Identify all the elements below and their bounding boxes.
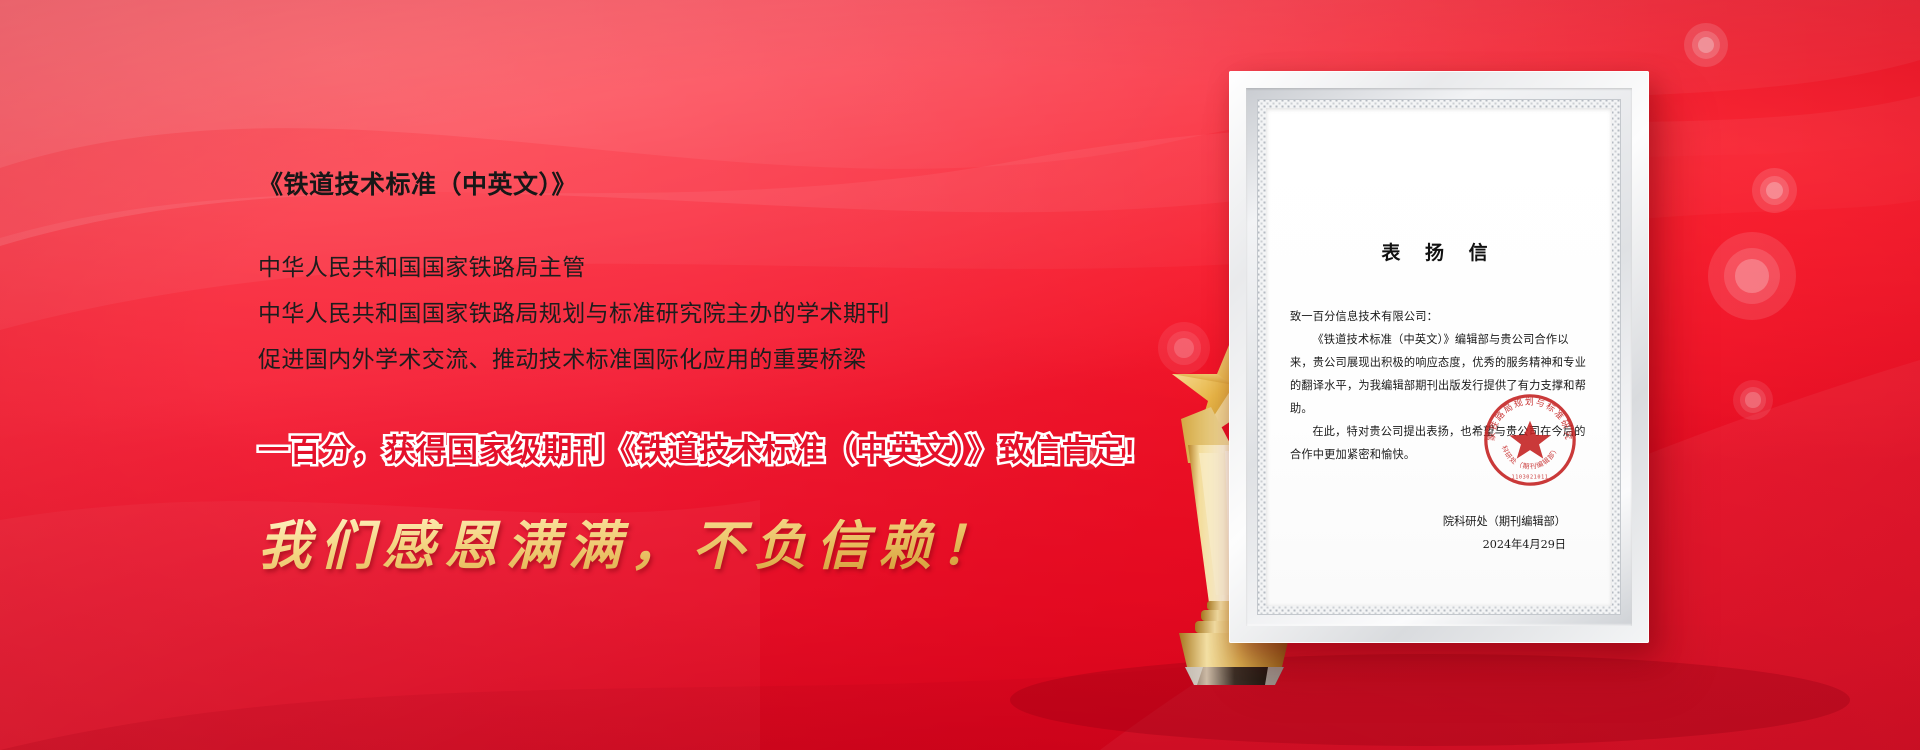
lead-line-3: 促进国内外学术交流、推动技术标准国际化应用的重要桥梁 [258, 336, 1178, 382]
lead-line-1: 中华人民共和国国家铁路局主管 [258, 244, 1178, 290]
signature-date: 2024年4月29日 [1290, 533, 1566, 556]
lead-paragraph: 中华人民共和国国家铁路局主管 中华人民共和国国家铁路局规划与标准研究院主办的学术… [258, 244, 1178, 382]
signer-name: 院科研处（期刊编辑部） [1290, 510, 1566, 533]
promo-banner: 《铁道技术标准（中英文）》 中华人民共和国国家铁路局主管 中华人民共和国国家铁路… [0, 0, 1920, 750]
calligraphy-slogan: 我们感恩满满，不负信赖！ [258, 519, 1178, 575]
official-seal-stamp: 国家铁路局规划与标准研究院 科研处（期刊编辑部） 1103021011 [1482, 392, 1578, 488]
journal-title: 《铁道技术标准（中英文）》 [258, 170, 1178, 200]
certificate-salutation: 致一百分信息技术有限公司： [1290, 305, 1588, 328]
lead-line-2: 中华人民共和国国家铁路局规划与标准研究院主办的学术期刊 [258, 290, 1178, 336]
frame-bevel: 表 扬 信 致一百分信息技术有限公司： 《铁道技术标准（中英文）》编辑部与贵公司… [1246, 88, 1632, 626]
certificate-title: 表 扬 信 [1290, 238, 1588, 265]
frame-mat: 表 扬 信 致一百分信息技术有限公司： 《铁道技术标准（中英文）》编辑部与贵公司… [1257, 99, 1621, 615]
svg-text:1103021011: 1103021011 [1512, 474, 1549, 480]
certificate-paper: 表 扬 信 致一百分信息技术有限公司： 《铁道技术标准（中英文）》编辑部与贵公司… [1266, 108, 1612, 606]
banner-copy: 《铁道技术标准（中英文）》 中华人民共和国国家铁路局主管 中华人民共和国国家铁路… [258, 170, 1178, 574]
certificate-frame: 表 扬 信 致一百分信息技术有限公司： 《铁道技术标准（中英文）》编辑部与贵公司… [1229, 71, 1649, 643]
certificate-signature: 院科研处（期刊编辑部） 2024年4月29日 [1290, 510, 1588, 556]
headline-text: 一百分，获得国家级期刊《铁道技术标准（中英文）》致信肯定! [258, 432, 1178, 471]
